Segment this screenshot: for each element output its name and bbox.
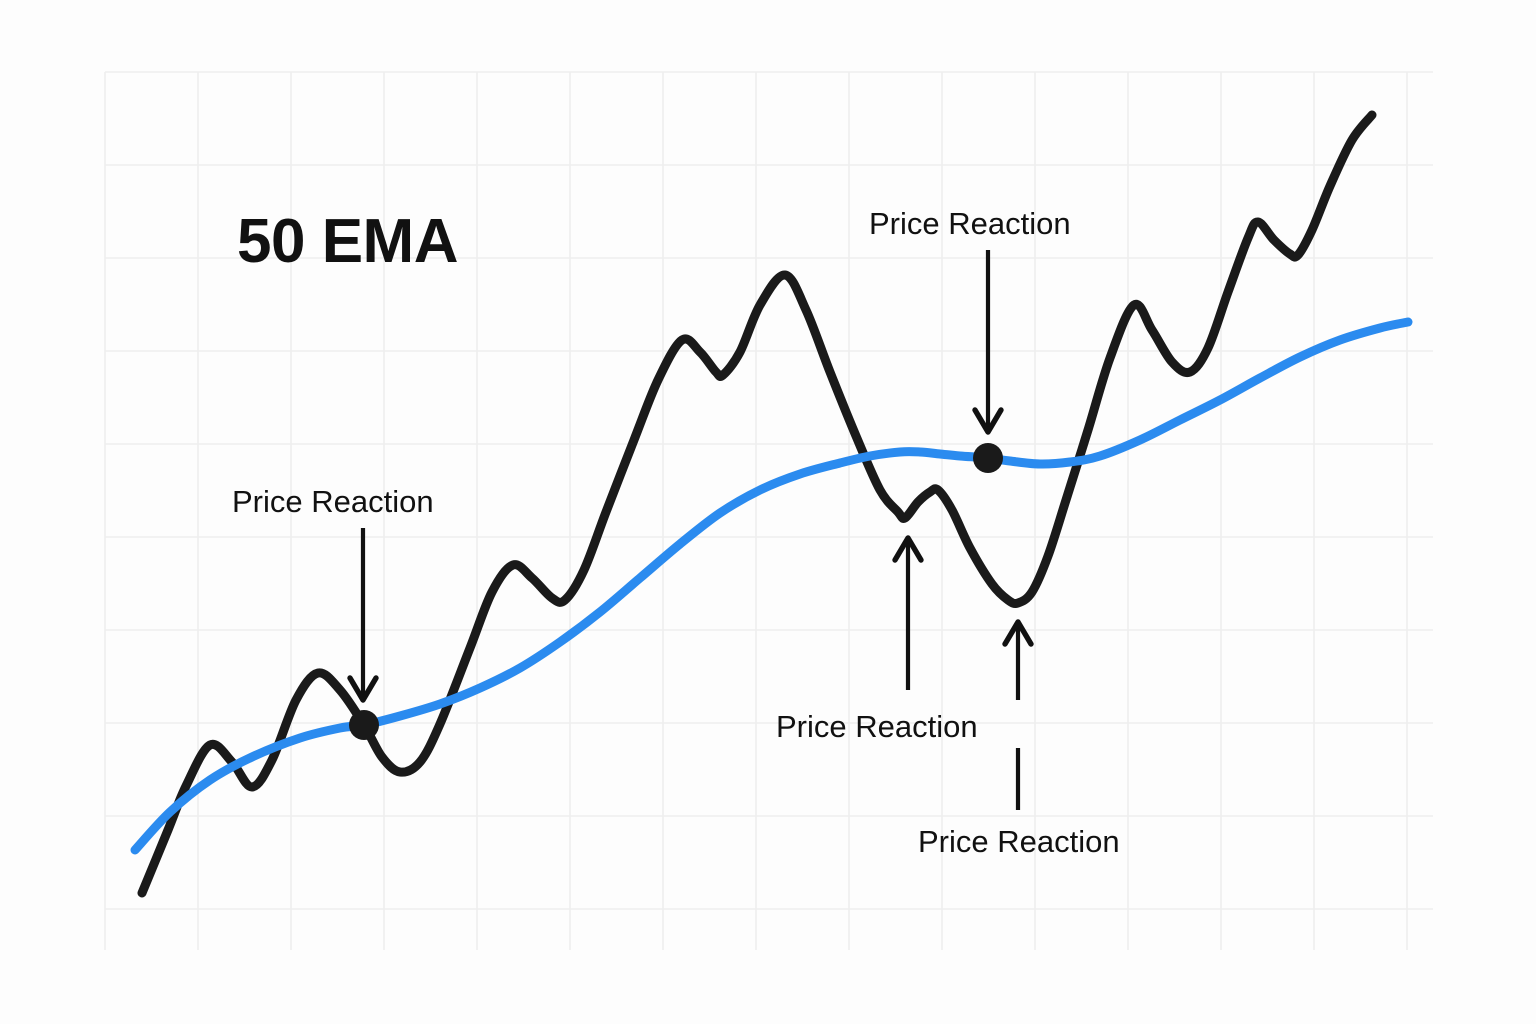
reaction-dot-2: [973, 443, 1003, 473]
annotation-1-label: Price Reaction: [232, 484, 434, 519]
chart-title: 50 EMA: [237, 207, 458, 276]
chart-canvas: Price ReactionPrice ReactionPrice Reacti…: [0, 0, 1536, 1024]
chart-background: [0, 0, 1536, 1024]
annotation-2-label: Price Reaction: [869, 206, 1071, 241]
annotation-3-label: Price Reaction: [776, 709, 978, 744]
annotation-4-label: Price Reaction: [918, 824, 1120, 859]
reaction-dot-1: [349, 710, 379, 740]
price-chart-svg: Price ReactionPrice ReactionPrice Reacti…: [0, 0, 1536, 1024]
